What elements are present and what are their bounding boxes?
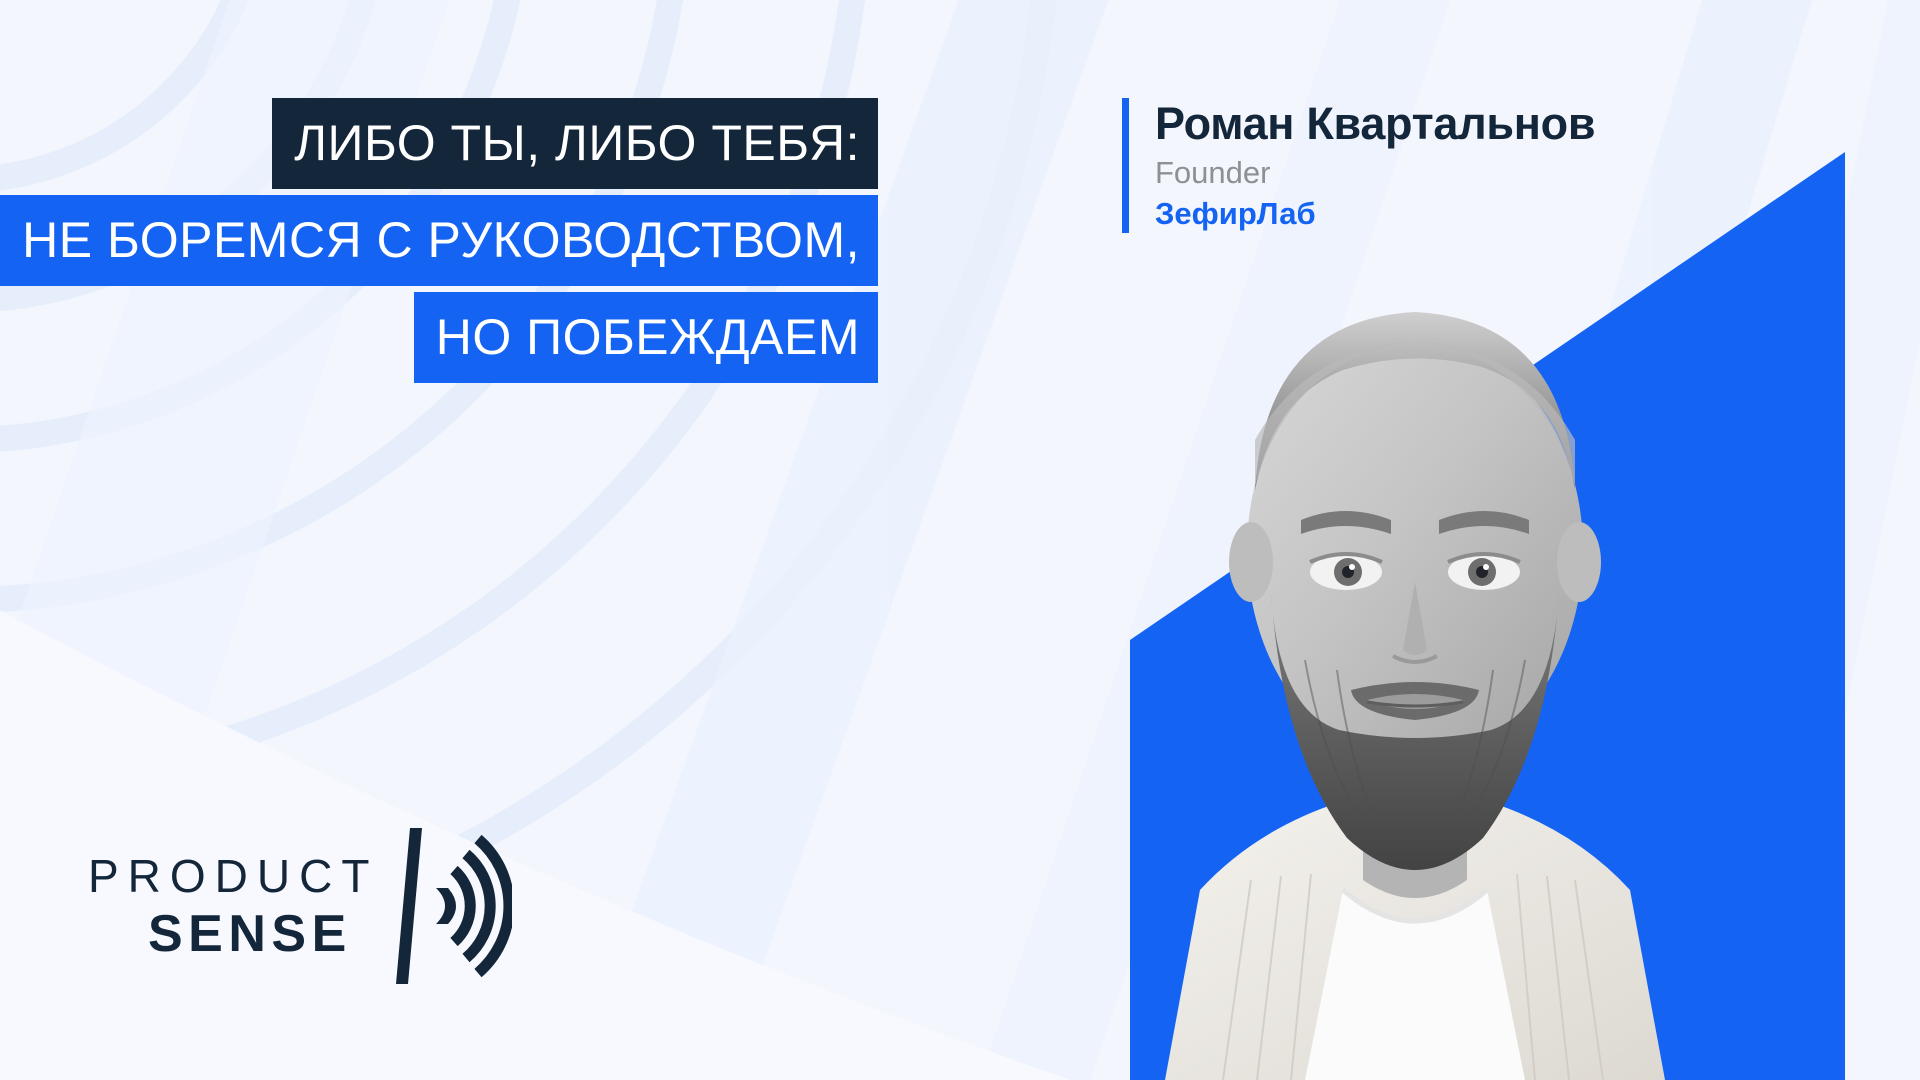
speaker-portrait	[1105, 190, 1725, 1080]
logo-wordmark: PRODUCT SENSE	[88, 853, 378, 960]
speaker-name: Роман Квартальнов	[1155, 100, 1595, 149]
speaker-company: ЗефирЛаб	[1155, 195, 1595, 232]
speaker-role: Founder	[1155, 154, 1595, 193]
speaker-accent-bar	[1122, 98, 1129, 233]
signal-wave-icon	[392, 826, 512, 986]
talk-title: ЛИБО ТЫ, ЛИБО ТЕБЯ: НЕ БОРЕМСЯ С РУКОВОД…	[0, 98, 878, 383]
logo-word-product: PRODUCT	[88, 853, 378, 899]
speaker-text-group: Роман Квартальнов Founder ЗефирЛаб	[1155, 98, 1595, 233]
title-line-3: НО ПОБЕЖДАЕМ	[414, 292, 878, 383]
title-line-1: ЛИБО ТЫ, ЛИБО ТЕБЯ:	[272, 98, 878, 189]
productsense-logo[interactable]: PRODUCT SENSE	[88, 826, 512, 986]
speaker-info: Роман Квартальнов Founder ЗефирЛаб	[1122, 98, 1595, 233]
title-line-2: НЕ БОРЕМСЯ С РУКОВОДСТВОМ,	[0, 195, 878, 286]
slide-canvas: ЛИБО ТЫ, ЛИБО ТЕБЯ: НЕ БОРЕМСЯ С РУКОВОД…	[0, 0, 1920, 1080]
logo-word-sense: SENSE	[148, 908, 352, 960]
